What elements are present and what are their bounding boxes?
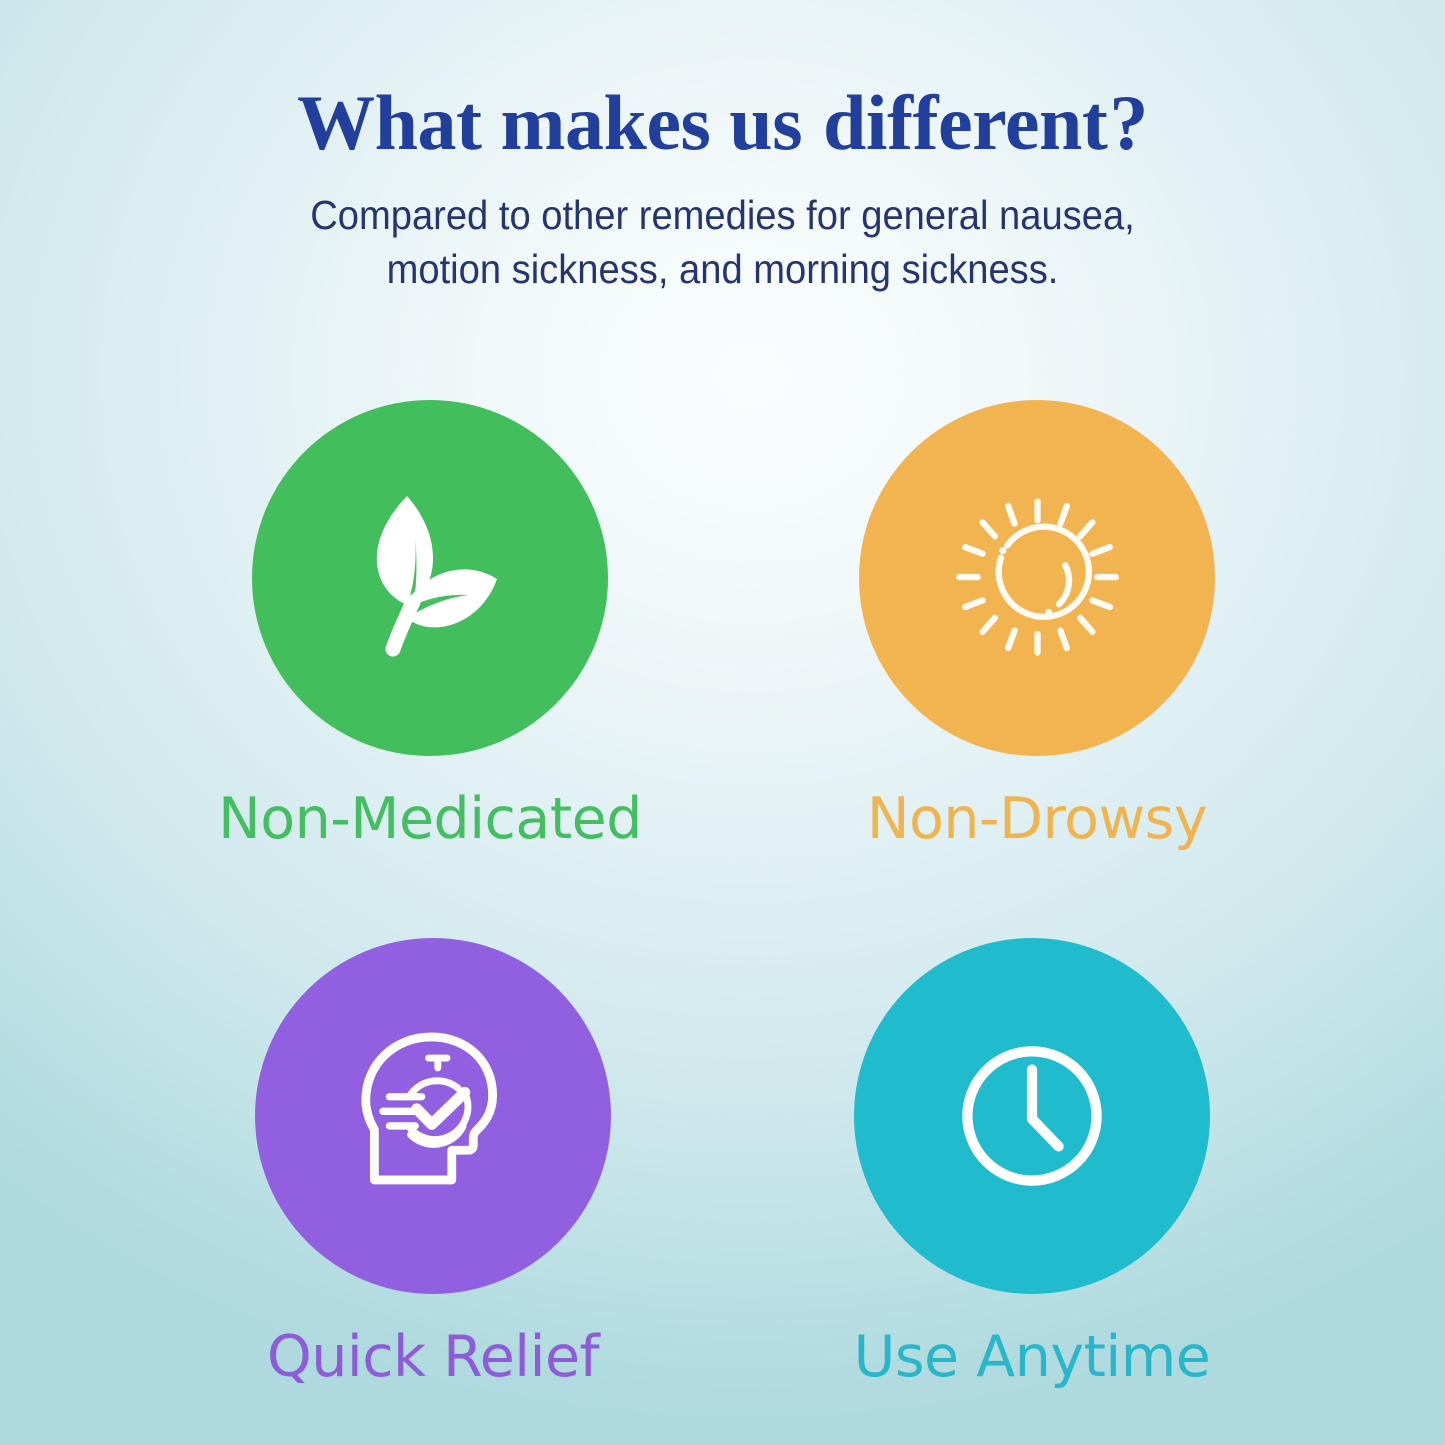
subtitle-line-2: motion sickness, and morning sickness. — [51, 242, 1395, 296]
icon-circle-purple — [255, 938, 611, 1294]
feature-item-quick-relief: Quick Relief — [163, 938, 703, 1389]
subtitle-line-1: Compared to other remedies for general n… — [51, 188, 1395, 242]
title-plain-text: What makes us — [297, 79, 821, 166]
feature-item-non-medicated: Non-Medicated — [160, 400, 700, 851]
header: What makes us different? Compared to oth… — [0, 0, 1445, 296]
feature-grid: Non-Medicated — [0, 400, 1445, 1440]
feature-label-use-anytime: Use Anytime — [762, 1294, 1302, 1389]
feature-item-non-drowsy: Non-Drowsy — [767, 400, 1307, 851]
feature-item-use-anytime: Use Anytime — [762, 938, 1302, 1389]
title-highlight-text: different — [823, 79, 1107, 166]
icon-circle-teal — [854, 938, 1210, 1294]
head-stopwatch-icon — [326, 1009, 541, 1224]
title-question-mark: ? — [1109, 79, 1148, 166]
feature-label-non-drowsy: Non-Drowsy — [767, 756, 1307, 851]
icon-circle-green — [252, 400, 608, 756]
page-title: What makes us different? — [0, 0, 1445, 162]
sun-icon — [935, 476, 1140, 681]
feature-label-quick-relief: Quick Relief — [163, 1294, 703, 1389]
leaf-icon — [330, 478, 530, 678]
icon-circle-orange — [859, 400, 1215, 756]
title-highlight-word: different — [821, 84, 1109, 162]
infographic-root: What makes us different? Compared to oth… — [0, 0, 1445, 1445]
page-subtitle: Compared to other remedies for general n… — [51, 162, 1395, 296]
clock-icon — [937, 1021, 1127, 1211]
feature-label-non-medicated: Non-Medicated — [160, 756, 700, 851]
